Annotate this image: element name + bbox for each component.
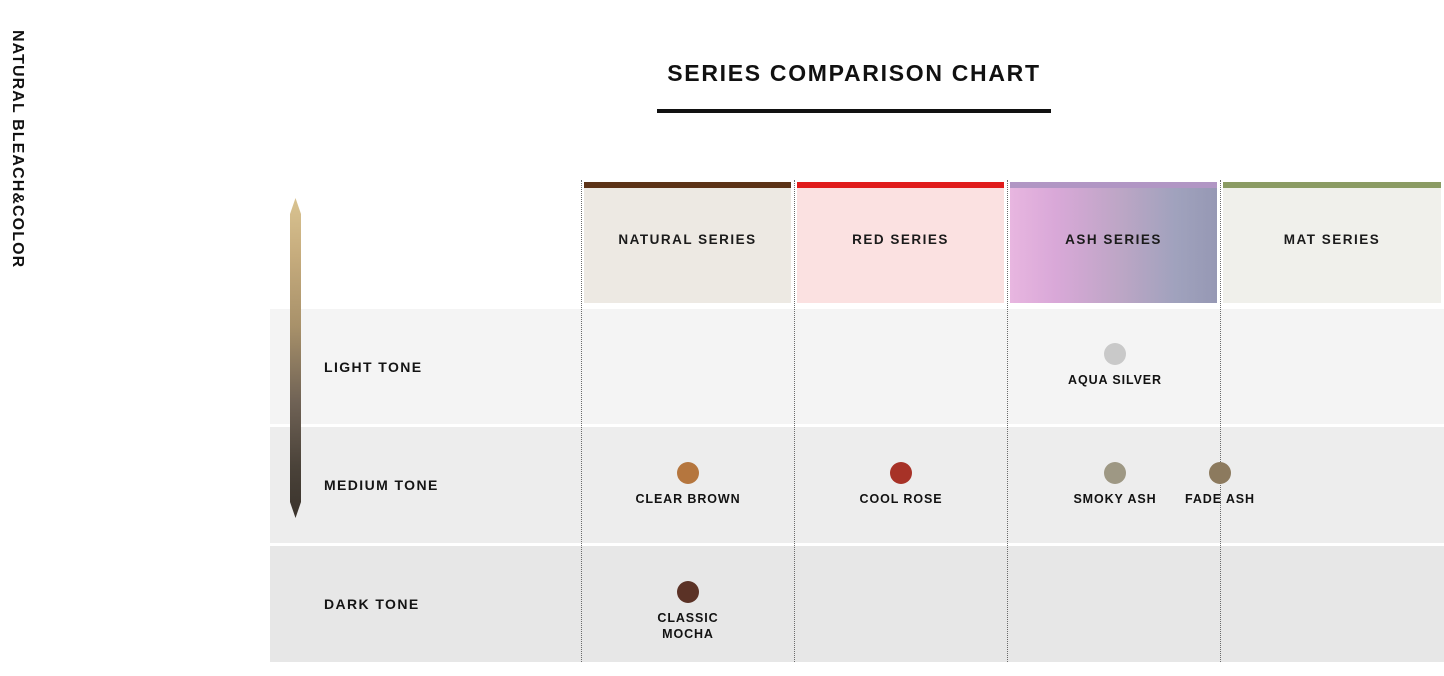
shade-color-dot [1104,343,1126,365]
tone-row: DARK TONE [270,543,1444,662]
column-divider [1007,180,1008,662]
shade-name-label: FADE ASH [1160,491,1280,507]
shade-color-dot [1104,462,1126,484]
tone-gradient-axis [290,198,301,518]
series-comparison-chart: LIGHT TONEMEDIUM TONEDARK TONE NATURAL S… [270,180,1444,662]
series-header[interactable]: MAT SERIES [1220,180,1444,306]
shade-marker[interactable]: SMOKY ASH [1055,462,1175,507]
shade-color-dot [677,462,699,484]
shade-name-label: CLEAR BROWN [628,491,748,507]
series-header[interactable]: ASH SERIES [1007,180,1220,306]
column-divider [581,180,582,662]
series-header[interactable]: NATURAL SERIES [581,180,794,306]
series-header-label: NATURAL SERIES [581,232,794,247]
brand-label: NATURAL BLEACH&COLOR [0,0,36,300]
column-divider [1220,180,1221,662]
page-title: SERIES COMPARISON CHART [657,57,1051,113]
shade-marker[interactable]: COOL ROSE [841,462,961,507]
shade-name-label: AQUA SILVER [1055,372,1175,388]
shade-name-label: SMOKY ASH [1055,491,1175,507]
shade-name-label: COOL ROSE [841,491,961,507]
series-header-label: RED SERIES [794,232,1007,247]
shade-marker[interactable]: FADE ASH [1160,462,1280,507]
tone-row-label: DARK TONE [324,596,420,612]
shade-color-dot [890,462,912,484]
shade-marker[interactable]: AQUA SILVER [1055,343,1175,388]
shade-color-dot [1209,462,1231,484]
shade-marker[interactable]: CLEAR BROWN [628,462,748,507]
series-header-row: NATURAL SERIESRED SERIESASH SERIESMAT SE… [270,180,1444,306]
series-header-label: ASH SERIES [1007,232,1220,247]
series-header-label: MAT SERIES [1220,232,1444,247]
tone-row-label: LIGHT TONE [324,359,423,375]
brand-label-text: NATURAL BLEACH&COLOR [8,30,26,268]
tone-row: LIGHT TONE [270,306,1444,424]
column-divider [794,180,795,662]
shade-name-label: CLASSIC MOCHA [628,610,748,642]
shade-color-dot [677,581,699,603]
tone-row-label: MEDIUM TONE [324,477,439,493]
page-title-text: SERIES COMPARISON CHART [657,57,1051,89]
series-header[interactable]: RED SERIES [794,180,1007,306]
title-underline [657,109,1051,113]
shade-marker[interactable]: CLASSIC MOCHA [628,581,748,642]
